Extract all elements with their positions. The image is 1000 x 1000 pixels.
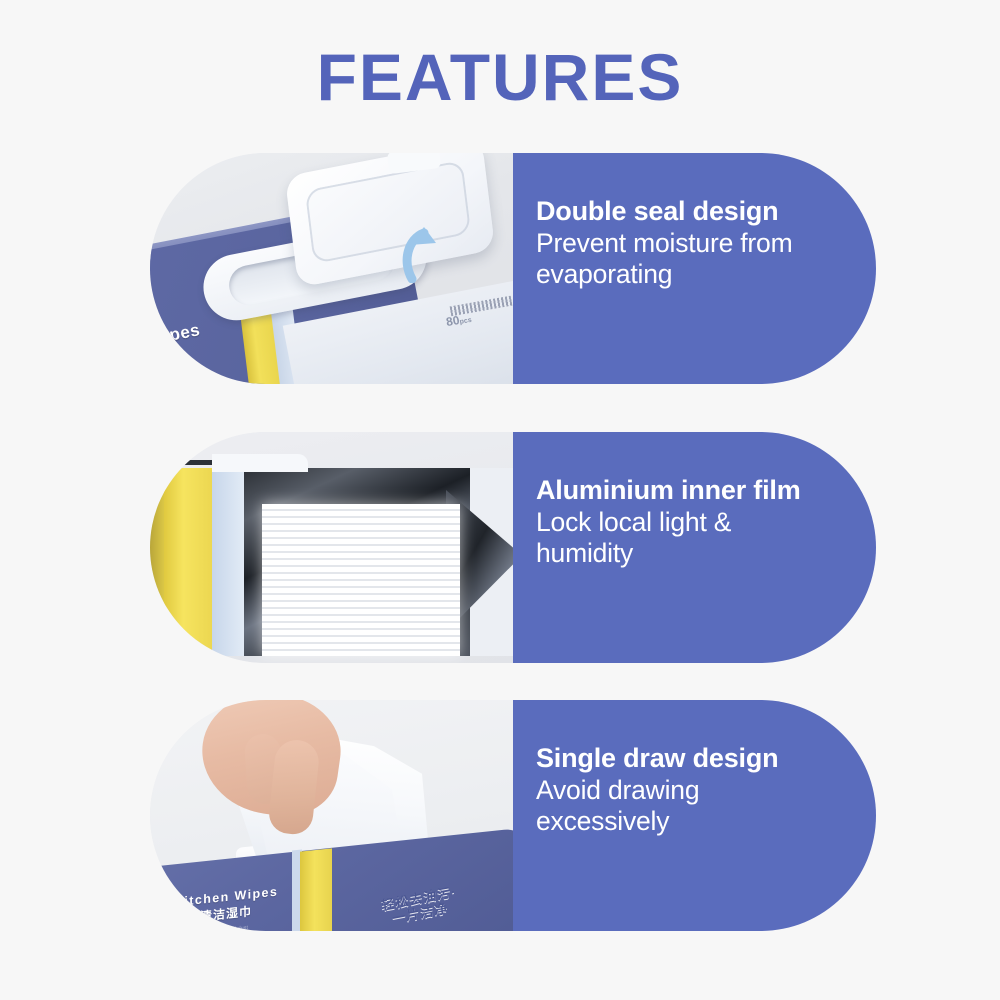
pack-blue-stripe bbox=[212, 468, 244, 656]
feature-text-double-seal: Double seal design Prevent moisture from… bbox=[513, 153, 876, 384]
feature-description: Prevent moisture from evaporating bbox=[536, 228, 806, 290]
feature-description: Lock local light & humidity bbox=[536, 507, 806, 569]
pack-lid-flap bbox=[212, 454, 308, 472]
page-title: FEATURES bbox=[0, 44, 1000, 110]
folded-wipes-stack bbox=[262, 504, 460, 656]
feature-row: Aluminium inner film Lock local light & … bbox=[150, 432, 876, 663]
feature-photo-single-draw: Kitchen Wipes 厨房清洁湿巾 Removes oil polluti… bbox=[150, 700, 516, 931]
feature-photo-aluminium-film bbox=[150, 432, 516, 663]
pack-yellow-stripe bbox=[300, 848, 332, 931]
feature-text-aluminium-film: Aluminium inner film Lock local light & … bbox=[513, 432, 876, 663]
feature-description: Avoid drawing excessively bbox=[536, 775, 806, 837]
feature-text-single-draw: Single draw design Avoid drawing excessi… bbox=[513, 700, 876, 931]
pack-yellow-stripe bbox=[164, 468, 212, 656]
curved-up-arrow-icon bbox=[398, 223, 454, 283]
pack-count-unit: pcs bbox=[459, 317, 472, 326]
feature-title: Single draw design bbox=[536, 742, 806, 775]
feature-row: Kitchen Wipes 厨房清洁湿巾 Removes oil polluti… bbox=[150, 700, 876, 931]
feature-photo-double-seal: Wipes 80pcs bbox=[150, 153, 516, 384]
feature-title: Aluminium inner film bbox=[536, 474, 806, 507]
feature-title: Double seal design bbox=[536, 195, 806, 228]
feature-row: Wipes 80pcs Double seal design Prevent m… bbox=[150, 153, 876, 384]
